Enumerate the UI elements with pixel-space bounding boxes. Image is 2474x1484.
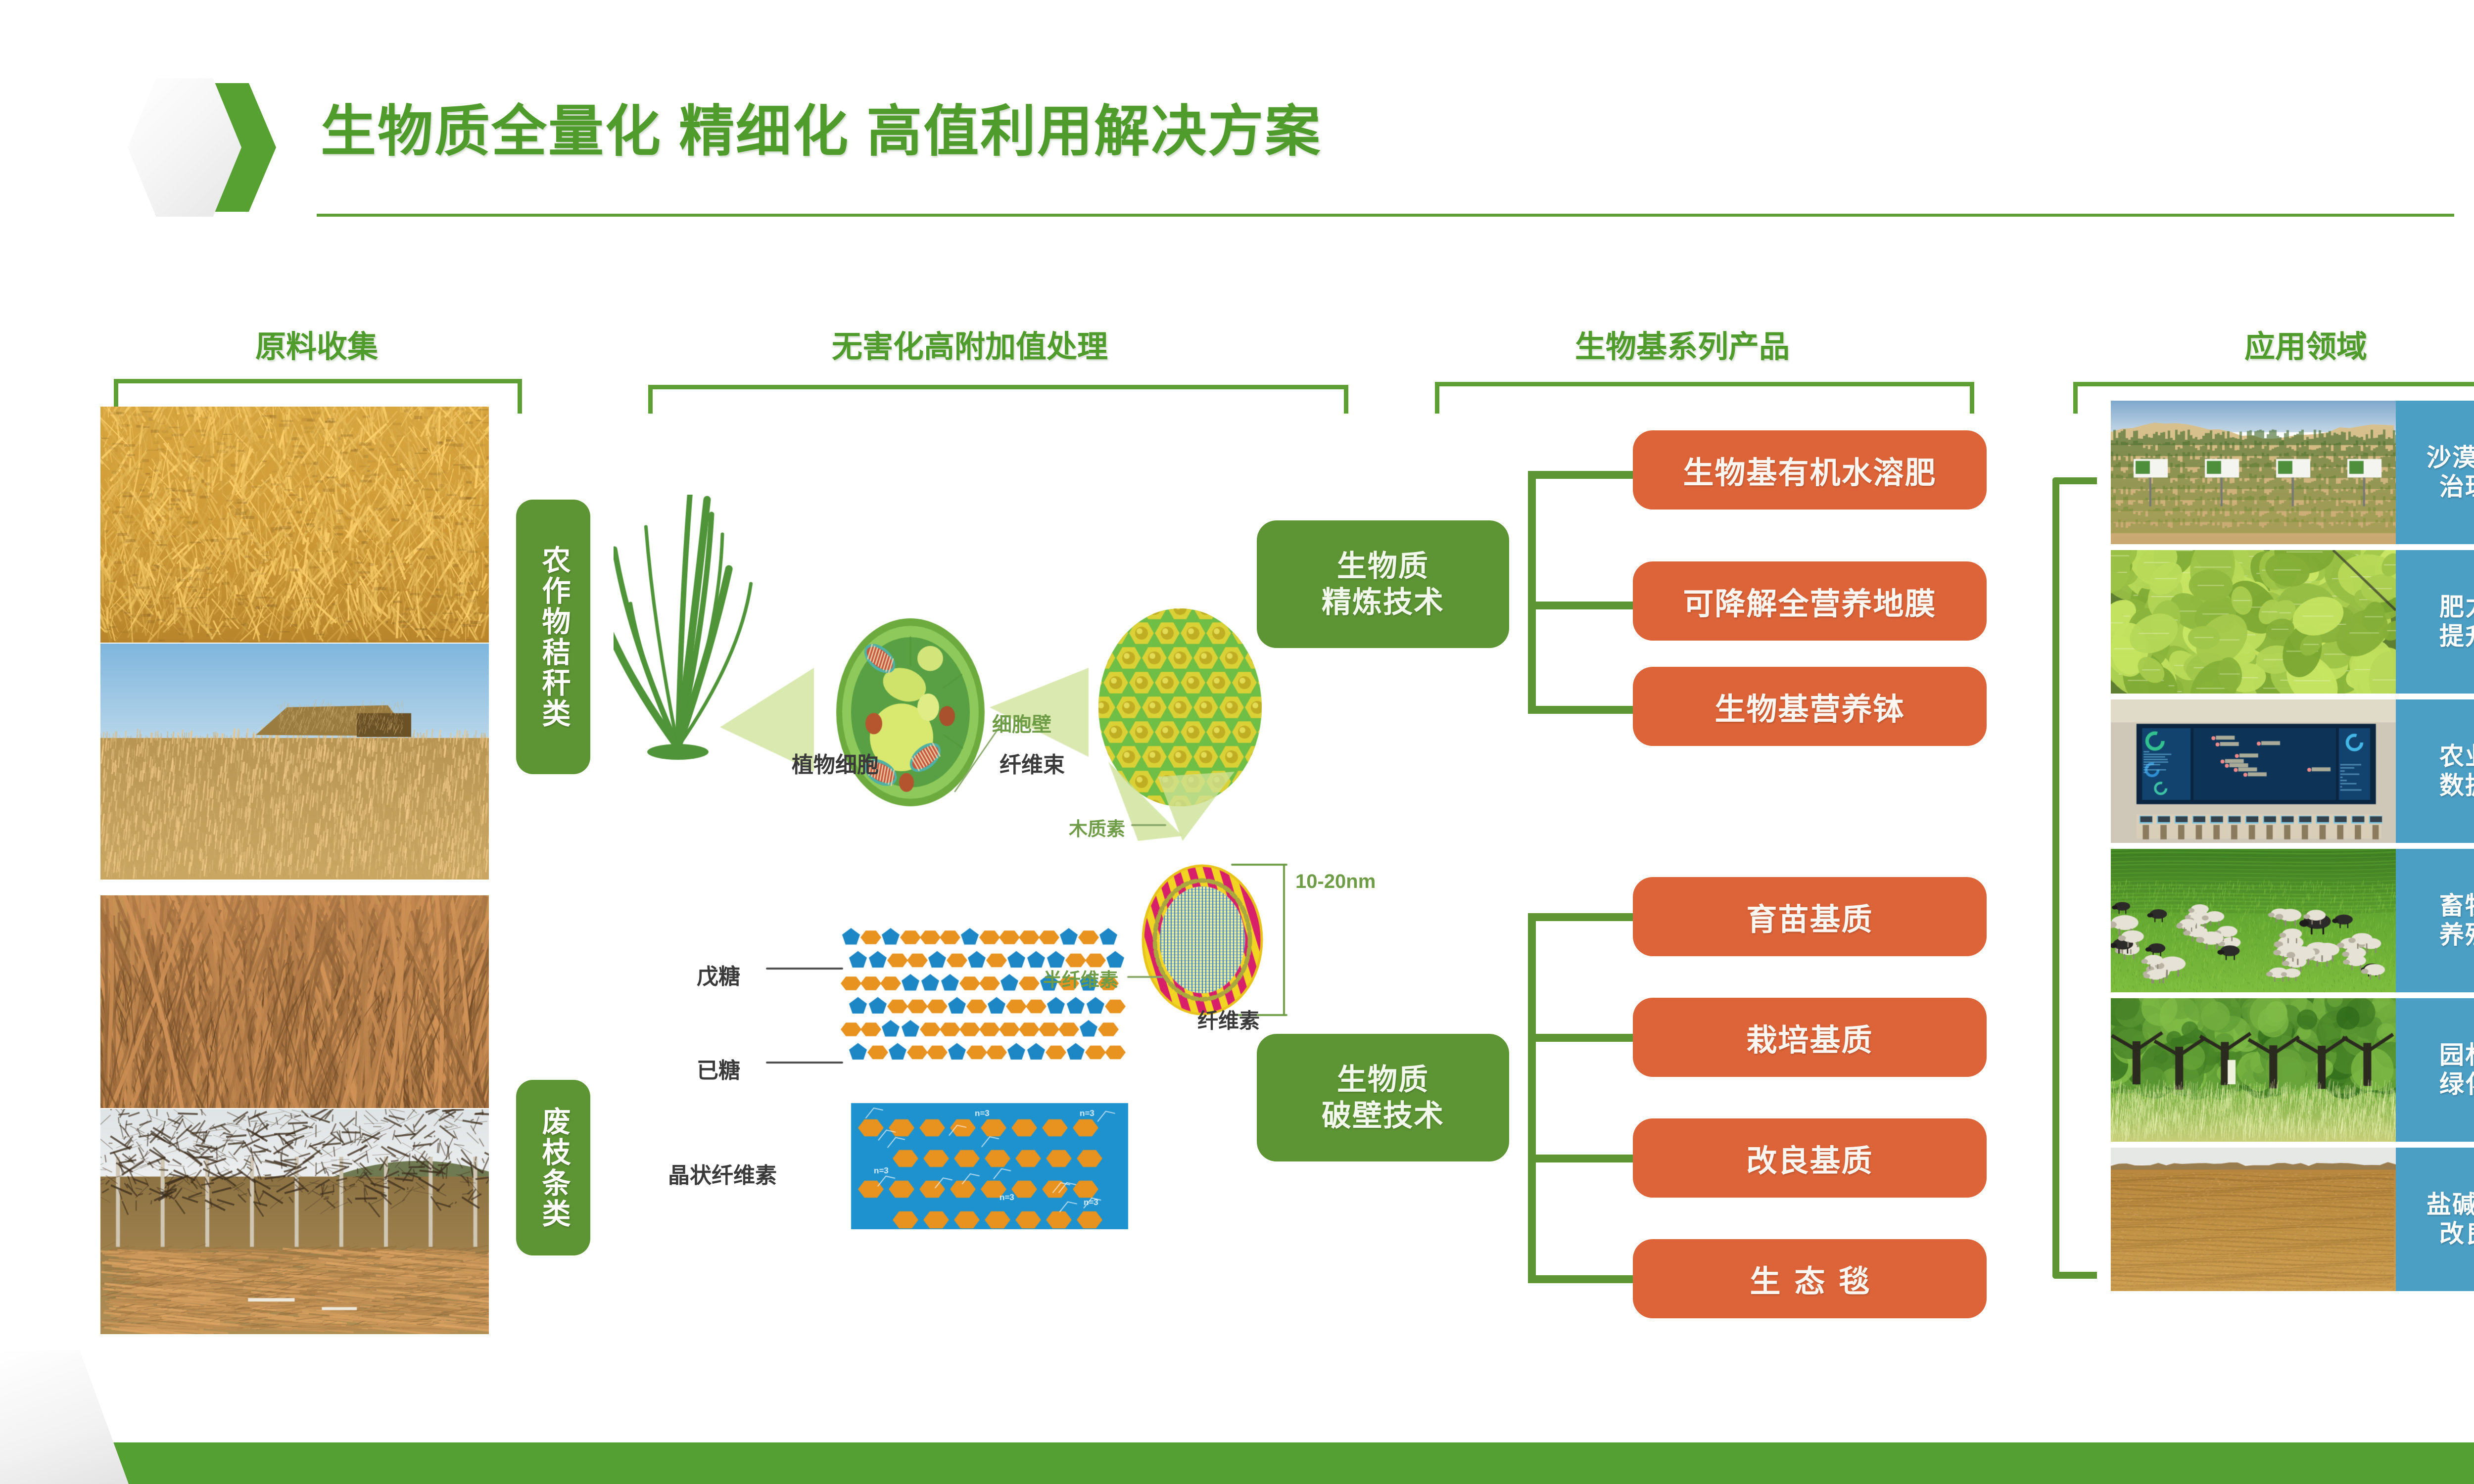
control-room-photo <box>2111 699 2396 843</box>
application-tag-fertility: 肥力 提升 <box>2396 550 2474 694</box>
hemicellulose-label: 半纤维素 <box>1043 965 1118 992</box>
park-trees-photo <box>2111 998 2396 1142</box>
dry-branches-photo <box>100 895 489 1108</box>
footer-bar <box>0 1442 2474 1484</box>
app-tag-line2: 改良 <box>2439 1219 2474 1249</box>
product-pill-organic-water-soluble-fertilizer: 生物基有机水溶肥 <box>1633 430 1987 510</box>
cabbage-field-photo <box>2111 550 2396 694</box>
product-pill-cultivation-substrate: 栽培基质 <box>1633 998 1987 1077</box>
sheep-pasture-photo <box>2111 849 2396 992</box>
app-tag-line1: 园林 <box>2439 1041 2474 1070</box>
title-underline <box>317 214 2454 217</box>
hexagon-chevron-logo <box>128 78 276 217</box>
lignin-label: 木质素 <box>1069 814 1125 841</box>
application-row-desertification: 沙漠化 治理 <box>2111 401 2474 544</box>
section-header-process: 无害化高附加值处理 <box>616 322 1324 366</box>
section-bracket-process <box>648 385 1348 414</box>
orchard-pruning-photo <box>100 1109 489 1334</box>
product-pill-degradable-mulch-film: 可降解全营养地膜 <box>1633 561 1987 641</box>
app-tag-line1: 畜牧 <box>2439 891 2474 921</box>
app-tag-line2: 提升 <box>2439 622 2474 651</box>
section-header-apps: 应用领域 <box>2073 322 2474 366</box>
tech-pill-line2: 精炼技术 <box>1322 584 1444 620</box>
biomass-wall-breaking-tech-pill: 生物质 破壁技术 <box>1257 1034 1509 1161</box>
product-pill-ecological-blanket: 生态毯 <box>1633 1239 1987 1318</box>
hexose-label: 已糖 <box>697 1053 740 1084</box>
biomass-refining-tech-pill: 生物质 精炼技术 <box>1257 520 1509 648</box>
application-row-fertility: 肥力 提升 <box>2111 550 2474 694</box>
section-bracket-products <box>1435 382 1974 414</box>
saline-land-photo <box>2111 1148 2396 1291</box>
app-tag-line1: 盐碱地 <box>2426 1190 2474 1219</box>
application-tag-saline-land: 盐碱地 改良 <box>2396 1148 2474 1291</box>
pentose-label: 戊糖 <box>697 959 740 990</box>
cell-wall-label: 细胞壁 <box>992 708 1051 737</box>
page-title: 生物质全量化 精细化 高值利用解决方案 <box>321 87 1322 167</box>
app-tag-line1: 农业 <box>2439 742 2474 771</box>
application-row-landscaping: 园林 绿化 <box>2111 998 2474 1142</box>
product-pill-seedling-substrate: 育苗基质 <box>1633 877 1987 956</box>
footer-wedge-shape <box>0 1350 129 1484</box>
waste-branch-pill: 废枝条类 <box>516 1080 590 1255</box>
app-tag-line2: 养殖 <box>2439 921 2474 950</box>
app-tag-line2: 绿化 <box>2439 1070 2474 1099</box>
infographic-page: 生物质全量化 精细化 高值利用解决方案 原料收集 无害化高附加值处理 生物基系列… <box>0 0 2474 1484</box>
section-header-products: 生物基系列产品 <box>1420 322 1945 366</box>
application-tag-agri-data: 农业 数据 <box>2396 699 2474 843</box>
application-tag-desertification: 沙漠化 治理 <box>2396 401 2474 544</box>
section-header-raw: 原料收集 <box>143 322 490 366</box>
product-pill-nutrition-pot: 生物基营养钵 <box>1633 667 1987 746</box>
application-row-agri-data: 农业 数据 <box>2111 699 2474 843</box>
app-tag-line2: 数据 <box>2439 771 2474 800</box>
application-tag-landscaping: 园林 绿化 <box>2396 998 2474 1142</box>
corn-stalk-photo <box>100 407 489 643</box>
app-tag-line1: 肥力 <box>2439 593 2474 622</box>
tech-pill-line1: 生物质 <box>1337 1062 1429 1098</box>
crop-straw-pill: 农作物秸秆类 <box>516 500 590 774</box>
crystalline-cellulose-label: 晶状纤维素 <box>668 1158 777 1189</box>
app-tag-line2: 治理 <box>2439 472 2474 502</box>
fiber-bundle-label: 纤维束 <box>999 747 1065 779</box>
product-pill-improvement-substrate: 改良基质 <box>1633 1118 1987 1198</box>
app-tag-line1: 沙漠化 <box>2426 443 2474 472</box>
application-row-saline-land: 盐碱地 改良 <box>2111 1148 2474 1291</box>
straw-bale-photo <box>100 644 489 880</box>
applications-bracket <box>2052 477 2097 1279</box>
tech-pill-line2: 破壁技术 <box>1322 1098 1444 1134</box>
application-tag-livestock: 畜牧 养殖 <box>2396 849 2474 992</box>
tech-pill-line1: 生物质 <box>1337 548 1429 584</box>
application-row-livestock: 畜牧 养殖 <box>2111 849 2474 992</box>
cellulose-label: 纤维素 <box>1197 1004 1260 1034</box>
plant-cell-label: 植物细胞 <box>792 747 879 779</box>
fibril-scale-label: 10-20nm <box>1295 871 1376 893</box>
desert-plots-photo <box>2111 401 2396 544</box>
